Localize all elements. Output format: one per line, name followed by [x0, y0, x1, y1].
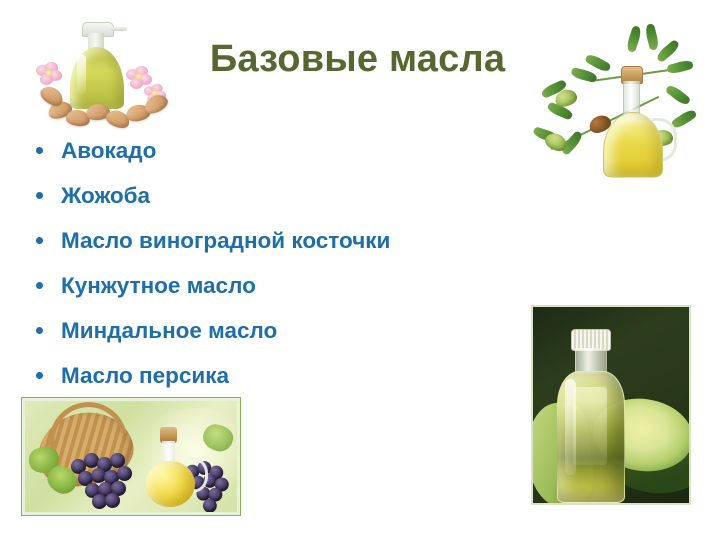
- list-item-label: Миндальное масло: [61, 318, 277, 344]
- jojoba-oil-carafe: [603, 66, 665, 178]
- list-item-label: Жожоба: [61, 183, 150, 209]
- grape-cluster: [71, 453, 133, 505]
- bottle-highlight: [565, 379, 576, 475]
- list-item: Масло виноградной косточки: [36, 218, 506, 263]
- list-item: Миндальное масло: [36, 308, 506, 353]
- list-item-label: Масло персика: [61, 363, 229, 389]
- bullet-dot-icon: [36, 372, 43, 379]
- carafe-neck: [623, 81, 640, 115]
- list-item: Жожоба: [36, 173, 506, 218]
- presentation-slide: Базовые масла Авокадо Жожоба Масло виног…: [0, 0, 715, 535]
- list-item-label: Кунжутное масло: [61, 273, 256, 299]
- list-item-label: Масло виноградной косточки: [61, 228, 390, 254]
- bullet-list: Авокадо Жожоба Масло виноградной косточк…: [36, 128, 506, 398]
- list-item-label: Авокадо: [61, 138, 156, 164]
- page-title: Базовые масла: [0, 38, 715, 81]
- bottle-label: [573, 387, 607, 465]
- carafe-body: [145, 461, 195, 507]
- grapeseed-oil-carafe: [143, 427, 199, 507]
- list-item: Масло персика: [36, 353, 506, 398]
- jojoba-leaf: [665, 83, 692, 107]
- bullet-dot-icon: [36, 192, 43, 199]
- bullet-dot-icon: [36, 237, 43, 244]
- list-item: Авокадо: [36, 128, 506, 173]
- bullet-dot-icon: [36, 327, 43, 334]
- avocado-oil-photo: [531, 305, 691, 505]
- bullet-dot-icon: [36, 282, 43, 289]
- list-item: Кунжутное масло: [36, 263, 506, 308]
- avocado-oil-bottle: [551, 329, 627, 501]
- grapeseed-oil-photo: [22, 398, 240, 515]
- bullet-dot-icon: [36, 147, 43, 154]
